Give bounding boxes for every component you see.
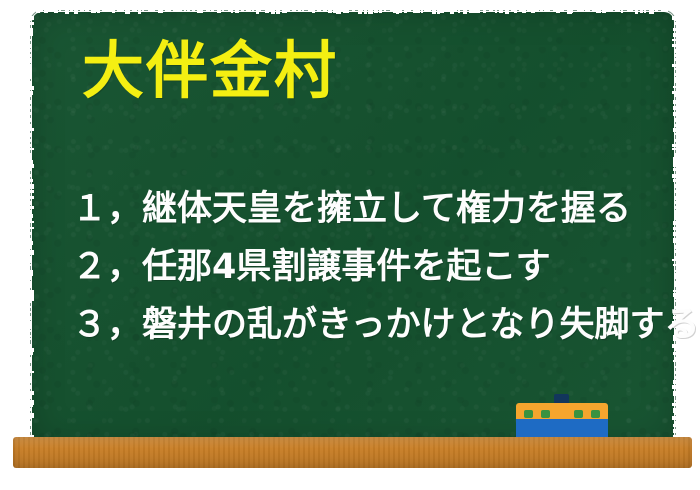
blackboard-edge-notch: [30, 403, 33, 407]
blackboard-edge-notch: [30, 19, 31, 21]
blackboard-edge-notch: [30, 58, 31, 63]
blackboard-edge-notch: [30, 206, 34, 209]
blackboard-edge-notch: [673, 28, 676, 31]
blackboard-edge-notch: [444, 10, 449, 11]
blackboard-edge-notch: [585, 10, 589, 12]
blackboard-edge-notch: [30, 22, 34, 25]
blackboard-edge-notch: [197, 10, 200, 13]
blackboard-edge-notch: [672, 385, 676, 389]
blackboard-edge-notch: [672, 44, 676, 47]
blackboard-edge-notch: [407, 10, 411, 12]
blackboard-edge-notch: [421, 10, 423, 13]
blackboard-edge-notch: [187, 10, 190, 12]
blackboard-edge-notch: [44, 10, 48, 13]
blackboard-edge-notch: [30, 179, 33, 182]
blackboard-edge-notch: [91, 10, 96, 13]
blackboard-edge-notch: [674, 49, 676, 53]
blackboard-edge-notch: [458, 10, 460, 13]
blackboard-edge-notch: [672, 403, 676, 406]
blackboard-edge-notch: [674, 77, 676, 82]
blackboard-edge-notch: [30, 157, 31, 160]
blackboard-edge-notch: [211, 10, 214, 12]
blackboard-edge-notch: [30, 168, 32, 171]
blackboard-edge-notch: [675, 54, 676, 57]
blackboard-edge-notch: [30, 293, 34, 298]
blackboard-edge-notch: [65, 10, 69, 14]
blackboard-edge-notch: [364, 10, 367, 14]
blackboard-edge-notch: [30, 221, 34, 223]
blackboard-edge-notch: [379, 10, 382, 13]
blackboard-edge-notch: [30, 73, 32, 77]
blackboard-edge-notch: [228, 10, 233, 12]
blackboard-edge-notch: [673, 112, 676, 116]
blackboard-edge-notch: [30, 281, 31, 286]
blackboard-edge-notch: [675, 81, 676, 83]
blackboard-edge-notch: [30, 380, 32, 383]
blackboard-edge-notch: [302, 10, 304, 11]
blackboard-edge-notch: [556, 10, 560, 13]
blackboard-edge-notch: [674, 73, 676, 76]
blackboard-edge-notch: [655, 10, 658, 12]
blackboard-edge-notch: [673, 157, 676, 162]
blackboard-edge-notch: [30, 360, 32, 363]
blackboard-edge-notch: [447, 10, 452, 12]
blackboard-edge-notch: [30, 196, 34, 199]
blackboard-edge-notch: [312, 10, 315, 13]
blackboard-edge-notch: [661, 10, 665, 12]
blackboard-edge-notch: [404, 10, 407, 13]
blackboard-edge-notch: [30, 371, 34, 373]
blackboard-edge-notch: [132, 10, 137, 11]
blackboard-edge-notch: [30, 86, 34, 90]
blackboard-edge-notch: [259, 10, 261, 12]
blackboard-edge-notch: [602, 10, 606, 13]
blackboard-edge-notch: [30, 214, 33, 218]
blackboard-edge-notch: [368, 10, 373, 14]
blackboard-edge-notch: [534, 10, 539, 11]
blackboard-edge-notch: [346, 10, 349, 13]
blackboard-edge-notch: [649, 10, 654, 14]
blackboard-edge-notch: [70, 10, 73, 12]
blackboard-edge-notch: [30, 259, 31, 263]
blackboard-edge-notch: [674, 19, 676, 21]
blackboard-edge-notch: [117, 10, 121, 12]
blackboard-edge-notch: [308, 10, 313, 12]
blackboard-edge-notch: [30, 276, 31, 280]
chalk-tray: [13, 437, 692, 468]
blackboard-edge-notch: [427, 10, 431, 12]
blackboard-edge-notch: [610, 10, 613, 12]
blackboard-edge-notch: [588, 10, 590, 12]
blackboard-edge-notch: [621, 10, 623, 13]
blackboard-edge-notch: [30, 164, 34, 168]
blackboard-edge-notch: [97, 10, 100, 13]
blackboard-edge-notch: [531, 10, 535, 13]
blackboard-edge-notch: [30, 321, 31, 326]
blackboard-edge-notch: [47, 10, 51, 11]
blackboard-edge-notch: [54, 10, 58, 13]
blackboard-edge-notch: [399, 10, 402, 13]
blackboard-edge-notch: [74, 10, 78, 14]
blackboard-edge-notch: [477, 10, 480, 13]
blackboard-edge-notch: [343, 10, 348, 13]
blackboard-edge-notch: [567, 10, 572, 14]
blackboard-edge-notch: [30, 413, 34, 418]
blackboard-edge-notch: [672, 144, 676, 147]
blackboard-edge-notch: [85, 10, 89, 12]
blackboard-edge-notch: [30, 28, 33, 33]
blackboard-edge-notch: [30, 357, 31, 360]
blackboard-edge-notch: [30, 201, 32, 205]
blackboard-edge-notch: [673, 380, 676, 384]
blackboard-edge-notch: [571, 10, 573, 13]
blackboard-edge-notch: [112, 10, 115, 13]
blackboard-edge-notch: [562, 10, 564, 11]
blackboard-edge-notch: [292, 10, 296, 11]
blackboard-edge-notch: [30, 376, 32, 381]
blackboard-edge-notch: [413, 10, 417, 13]
blackboard-edge-notch: [30, 344, 32, 349]
blackboard-edge-notch: [30, 290, 34, 295]
blackboard-edge-notch: [674, 153, 676, 158]
blackboard-edge-notch: [165, 10, 168, 11]
blackboard-edge-notch: [30, 174, 32, 177]
blackboard-edge-notch: [323, 10, 327, 11]
blackboard-edge-notch: [644, 10, 646, 13]
blackboard-edge-notch: [437, 10, 440, 14]
blackboard-edge-notch: [217, 10, 221, 13]
blackboard-edge-notch: [271, 10, 275, 14]
blackboard-edge-notch: [30, 424, 32, 426]
blackboard-edge-notch: [30, 270, 33, 275]
blackboard-edge-notch: [30, 394, 31, 399]
blackboard-edge-notch: [30, 273, 33, 276]
blackboard-edge-notch: [640, 10, 643, 13]
blackboard-edge-notch: [30, 33, 33, 36]
blackboard-edge-notch: [30, 391, 34, 395]
blackboard-edge-notch: [631, 10, 633, 11]
blackboard-edge-notch: [30, 144, 32, 147]
blackboard-edge-notch: [30, 100, 32, 104]
blackboard-edge-notch: [192, 10, 195, 12]
blackboard-edge-notch: [333, 10, 336, 13]
blackboard-edge-notch: [673, 33, 676, 37]
blackboard-edge-notch: [30, 94, 32, 97]
blackboard-eraser-icon: [516, 394, 608, 440]
blackboard-edge-notch: [673, 394, 676, 396]
blackboard-edge-notch: [453, 10, 457, 12]
blackboard-edge-notch: [30, 217, 31, 221]
blackboard-edge-notch: [222, 10, 224, 12]
blackboard-edge-notch: [675, 94, 676, 97]
eraser-felt-dot: [524, 410, 533, 418]
blackboard-edge-notch: [514, 10, 517, 13]
blackboard-edge-notch: [30, 408, 32, 411]
blackboard-edge-notch: [559, 10, 562, 12]
blackboard-edge-notch: [30, 241, 33, 245]
blackboard-edge-notch: [674, 376, 676, 379]
blackboard-edge-notch: [615, 10, 620, 12]
blackboard-edge-notch: [282, 10, 287, 13]
blackboard-edge-notch: [635, 10, 638, 14]
blackboard-edge-notch: [540, 10, 543, 12]
blackboard-edge-notch: [672, 416, 676, 420]
blackboard-edge-notch: [580, 10, 584, 12]
blackboard-edge-notch: [432, 10, 436, 14]
blackboard-edge-notch: [30, 128, 34, 131]
blackboard-edge-notch: [30, 316, 31, 320]
blackboard-edge-notch: [473, 10, 477, 13]
blackboard-edge-notch: [672, 16, 676, 20]
blackboard-edge-notch: [30, 366, 32, 371]
blackboard-edge-notch: [179, 10, 182, 12]
blackboard-edge-notch: [527, 10, 532, 12]
blackboard-edge-notch: [30, 160, 33, 165]
blackboard-edge-notch: [241, 10, 244, 12]
blackboard-edge-notch: [672, 64, 676, 67]
blackboard-edge-notch: [675, 357, 676, 362]
blackboard-edge-notch: [30, 139, 32, 142]
blackboard-edge-notch: [125, 10, 130, 14]
blackboard-edge-notch: [544, 10, 547, 11]
blackboard-edge-notch: [674, 68, 676, 70]
blackboard-edge-notch: [148, 10, 152, 12]
blackboard-edge-notch: [673, 86, 676, 88]
blackboard-edge-notch: [450, 10, 454, 14]
blackboard-edge-notch: [30, 348, 34, 352]
blackboard-edge-notch: [547, 10, 550, 12]
blackboard-edge-notch: [30, 190, 34, 193]
blackboard-edge-notch: [505, 10, 509, 14]
blackboard-text-list: １，継体天皇を擁立して権力を握る ２，任那4県割譲事件を起こす ３，磐井の乱がき…: [72, 180, 700, 354]
blackboard-edge-notch: [489, 10, 493, 12]
blackboard-edge-notch: [674, 366, 676, 368]
blackboard-edge-notch: [161, 10, 163, 13]
blackboard-edge-notch: [30, 106, 31, 109]
blackboard: 大伴金村 １，継体天皇を擁立して権力を握る ２，任那4県割譲事件を起こす ３，磐…: [32, 12, 674, 444]
blackboard-edge-notch: [30, 245, 32, 249]
blackboard-edge-notch: [328, 10, 332, 13]
blackboard-edge-notch: [30, 133, 32, 137]
blackboard-edge-notch: [102, 10, 106, 12]
blackboard-edge-notch: [30, 385, 32, 389]
blackboard-edge-notch: [675, 413, 676, 415]
blackboard-edge-notch: [673, 391, 676, 396]
blackboard-edge-notch: [358, 10, 362, 14]
blackboard-edge-notch: [499, 10, 503, 13]
blackboard-edge-notch: [30, 184, 34, 189]
blackboard-edge-notch: [390, 10, 393, 11]
blackboard-edge-notch: [30, 306, 32, 308]
blackboard-edge-notch: [30, 153, 32, 157]
blackboard-edge-notch: [30, 64, 32, 68]
blackboard-edge-notch: [495, 10, 497, 13]
blackboard-edge-notch: [59, 10, 61, 11]
blackboard-edge-notch: [30, 49, 32, 52]
blackboard-edge-notch: [30, 311, 31, 313]
blackboard-edge-notch: [340, 10, 343, 11]
blackboard-edge-notch: [30, 284, 32, 288]
blackboard-edge-notch: [673, 360, 676, 362]
blackboard-edge-notch: [553, 10, 557, 11]
blackboard-edge-notch: [673, 164, 676, 167]
blackboard-edge-notch: [511, 10, 514, 12]
blackboard-edge-notch: [675, 133, 676, 135]
blackboard-edge-notch: [30, 44, 31, 48]
blackboard-edge-notch: [673, 100, 676, 104]
blackboard-edge-notch: [30, 264, 32, 266]
blackboard-edge-notch: [673, 160, 676, 164]
blackboard-edge-notch: [128, 10, 130, 13]
blackboard-edge-notch: [298, 10, 301, 12]
blackboard-edge-notch: [152, 10, 155, 12]
blackboard-edge-notch: [416, 10, 420, 13]
blackboard-edge-notch: [30, 232, 32, 235]
blackboard-edge-notch: [36, 10, 40, 13]
eraser-felt-dot: [591, 410, 600, 418]
blackboard-edge-notch: [30, 429, 31, 432]
blackboard-edge-notch: [674, 22, 676, 25]
blackboard-edge-notch: [168, 10, 171, 12]
eraser-felt-dot: [574, 410, 583, 418]
blackboard-edge-notch: [206, 10, 210, 12]
blackboard-edge-notch: [336, 10, 341, 14]
blackboard-edge-notch: [673, 128, 676, 132]
blackboard-edge-notch: [674, 118, 676, 122]
blackboard-edge-notch: [30, 338, 31, 340]
blackboard-edge-notch: [317, 10, 321, 12]
blackboard-edge-notch: [673, 424, 676, 427]
blackboard-edge-notch: [94, 10, 98, 12]
blackboard-edge-notch: [361, 10, 363, 12]
blackboard-edge-notch: [265, 10, 269, 13]
blackboard-edge-notch: [675, 139, 676, 142]
blackboard-edge-notch: [673, 429, 676, 433]
blackboard-edge-notch: [120, 10, 124, 11]
blackboard-edge-notch: [138, 10, 141, 14]
blackboard-edge-notch: [276, 10, 280, 14]
blackboard-edge-notch: [519, 10, 523, 11]
blackboard-edge-notch: [673, 168, 676, 171]
blackboard-edge-notch: [577, 10, 582, 12]
blackboard-edge-notch: [592, 10, 596, 11]
blackboard-edge-notch: [105, 10, 109, 12]
blackboard-edge-notch: [231, 10, 233, 13]
blackboard-edge-notch: [675, 421, 676, 424]
list-item: １，継体天皇を擁立して権力を握る: [72, 180, 700, 238]
blackboard-edge-notch: [30, 118, 31, 122]
blackboard-edge-notch: [30, 352, 33, 355]
blackboard-edge-notch: [30, 81, 32, 86]
blackboard-edge-notch: [674, 400, 676, 402]
blackboard-edge-notch: [30, 124, 32, 128]
blackboard-edge-notch: [469, 10, 473, 13]
blackboard-edge-notch: [30, 300, 32, 303]
blackboard-edge-notch: [256, 10, 259, 14]
blackboard-edge-notch: [30, 335, 31, 337]
blackboard-edge-notch: [672, 174, 676, 178]
blackboard-edge-notch: [396, 10, 399, 14]
blackboard-edge-notch: [30, 210, 32, 214]
blackboard-edge-notch: [30, 256, 31, 261]
blackboard-edge-notch: [30, 250, 34, 255]
blackboard-edge-notch: [440, 10, 444, 13]
blackboard-edge-notch: [665, 10, 668, 12]
page-title: 大伴金村: [82, 40, 338, 102]
blackboard-edge-notch: [200, 10, 203, 13]
blackboard-edge-notch: [30, 227, 34, 229]
blackboard-edge-notch: [30, 16, 34, 20]
blackboard-edge-notch: [30, 112, 31, 115]
blackboard-edge-notch: [30, 148, 34, 150]
blackboard-edge-notch: [30, 421, 32, 425]
blackboard-edge-notch: [51, 10, 54, 11]
chalkboard-scene: 大伴金村 １，継体天皇を擁立して権力を握る ２，任那4県割譲事件を起こす ３，磐…: [0, 0, 700, 490]
blackboard-edge-notch: [673, 408, 676, 413]
blackboard-edge-notch: [675, 371, 676, 374]
blackboard-edge-notch: [184, 10, 186, 12]
blackboard-edge-notch: [30, 91, 33, 95]
blackboard-edge-notch: [627, 10, 631, 12]
blackboard-edge-notch: [675, 124, 676, 127]
blackboard-edge-notch: [252, 10, 254, 11]
blackboard-edge-notch: [30, 68, 31, 73]
blackboard-edge-notch: [30, 54, 32, 57]
blackboard-edge-notch: [246, 10, 251, 11]
blackboard-edge-notch: [135, 10, 137, 12]
blackboard-edge-notch: [30, 39, 32, 41]
blackboard-edge-notch: [596, 10, 601, 13]
blackboard-edge-notch: [235, 10, 239, 13]
blackboard-edge-notch: [30, 330, 31, 332]
blackboard-edge-notch: [424, 10, 428, 12]
blackboard-edge-notch: [483, 10, 486, 13]
blackboard-edge-notch: [287, 10, 290, 11]
blackboard-edge-notch: [30, 77, 32, 79]
blackboard-edge-notch: [39, 10, 43, 12]
blackboard-edge-notch: [268, 10, 272, 11]
blackboard-edge-notch: [672, 91, 676, 94]
blackboard-edge-notch: [30, 324, 32, 329]
list-item: ２，任那4県割譲事件を起こす: [72, 238, 700, 296]
blackboard-edge-notch: [522, 10, 526, 13]
blackboard-edge-notch: [352, 10, 355, 11]
blackboard-edge-notch: [30, 400, 34, 405]
blackboard-edge-notch: [672, 148, 676, 150]
blackboard-edge-notch: [158, 10, 161, 13]
blackboard-edge-notch: [30, 416, 31, 419]
blackboard-edge-notch: [672, 39, 676, 41]
eraser-felt-dot: [541, 410, 550, 418]
blackboard-edge-notch: [605, 10, 610, 12]
blackboard-edge-notch: [674, 58, 676, 61]
list-item: ３，磐井の乱がきっかけとなり失脚する: [72, 296, 700, 354]
blackboard-edge-notch: [673, 106, 676, 110]
blackboard-edge-notch: [80, 10, 84, 12]
blackboard-edge-notch: [393, 10, 397, 13]
blackboard-edge-notch: [463, 10, 467, 14]
blackboard-edge-notch: [374, 10, 378, 13]
blackboard-edge-notch: [108, 10, 112, 12]
blackboard-edge-notch: [30, 297, 34, 301]
blackboard-edge-notch: [142, 10, 144, 12]
blackboard-edge-notch: [176, 10, 179, 12]
blackboard-edge-notch: [173, 10, 176, 12]
blackboard-edge-notch: [30, 238, 32, 242]
blackboard-edge-notch: [384, 10, 386, 12]
